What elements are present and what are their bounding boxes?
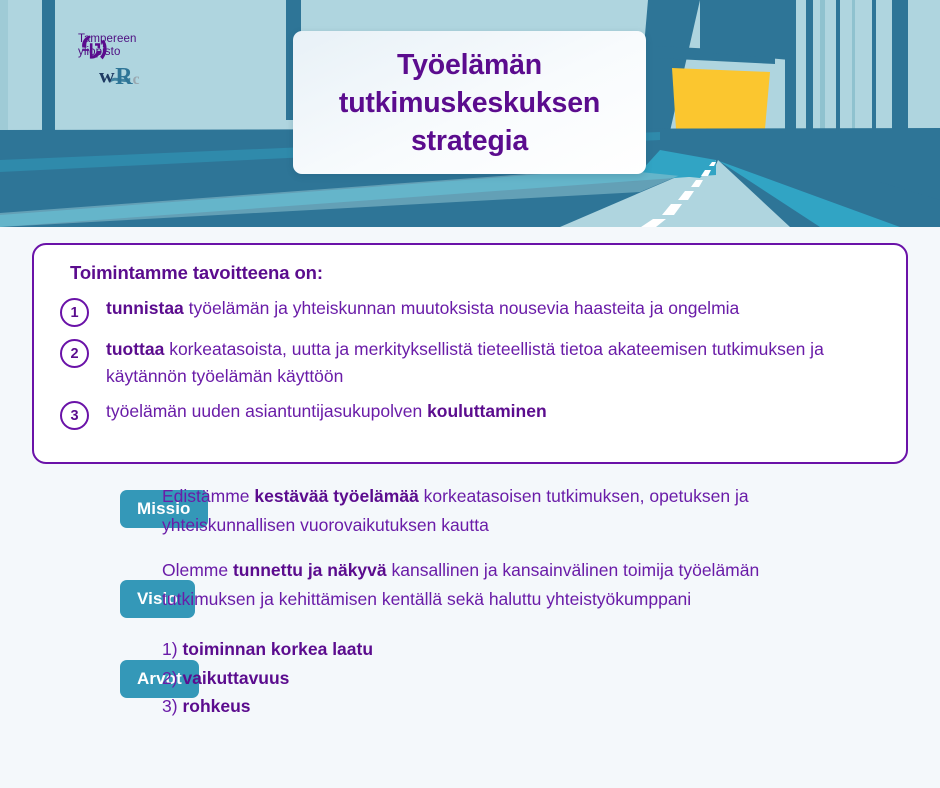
svg-text:w: w <box>99 64 115 88</box>
arvot-value-label: toiminnan korkea laatu <box>182 639 373 659</box>
arvot-row: Arvot 1) toiminnan korkea laatu 2) vaiku… <box>0 635 940 721</box>
objective-text: tunnistaa työelämän ja yhteiskunnan muut… <box>106 295 739 322</box>
objective-number-badge: 2 <box>60 339 89 368</box>
objective-keyword: tunnistaa <box>106 298 184 318</box>
visio-keyword: tunnettu ja näkyvä <box>233 560 387 580</box>
missio-keyword: kestävää työelämää <box>254 486 418 506</box>
objective-item-3: 3 työelämän uuden asiantuntijasukupolven… <box>60 398 880 430</box>
arvot-values-list: 1) toiminnan korkea laatu 2) vaikuttavuu… <box>162 635 373 721</box>
visio-row: Visio Olemme tunnettu ja näkyvä kansalli… <box>0 556 940 618</box>
arvot-value-item: 1) toiminnan korkea laatu <box>162 635 373 664</box>
svg-text:c: c <box>133 71 140 88</box>
objective-number-badge: 1 <box>60 298 89 327</box>
objective-pre: työelämän uuden asiantuntijasukupolven <box>106 401 427 421</box>
visio-badge-wrap: Visio <box>0 556 120 618</box>
logo-group: Tampereen yliopisto w R c <box>78 33 136 59</box>
objective-item-1: 1 tunnistaa työelämän ja yhteiskunnan mu… <box>60 295 880 327</box>
arvot-value-marker: 2) <box>162 668 178 688</box>
objective-text: työelämän uuden asiantuntijasukupolven k… <box>106 398 547 425</box>
bridge-cable-far-left <box>0 0 8 140</box>
svg-text:R: R <box>115 64 133 90</box>
wrc-logo: w R c <box>99 61 171 91</box>
arvot-value-label: rohkeus <box>182 696 250 716</box>
arvot-value-label: vaikuttavuus <box>182 668 289 688</box>
visio-text: Olemme tunnettu ja näkyvä kansallinen ja… <box>162 556 822 613</box>
objective-rest: työelämän ja yhteiskunnan muutoksista no… <box>184 298 739 318</box>
missio-badge-wrap: Missio <box>0 482 120 528</box>
arvot-badge-wrap: Arvot <box>0 635 120 698</box>
arvot-value-item: 3) rohkeus <box>162 692 373 721</box>
missio-row: Missio Edistämme kestävää työelämää kork… <box>0 482 940 539</box>
page-title: Työelämän tutkimuskeskuksen strategia <box>293 46 646 160</box>
missio-text: Edistämme kestävää työelämää korkeatasoi… <box>162 482 822 539</box>
arvot-value-marker: 1) <box>162 639 178 659</box>
objective-text: tuottaa korkeatasoista, uutta ja merkity… <box>106 336 866 389</box>
tampere-university-logo: Tampereen yliopisto <box>78 33 136 59</box>
bridge-pylon-left <box>42 0 55 140</box>
objective-rest: korkeatasoista, uutta ja merkityksellist… <box>106 339 824 386</box>
title-card: Työelämän tutkimuskeskuksen strategia <box>293 31 646 174</box>
objective-keyword: kouluttaminen <box>427 401 547 421</box>
hero-banner: Tampereen yliopisto w R c Työelämän tutk… <box>0 0 940 227</box>
bridge-deck-upper <box>700 0 790 60</box>
objective-number-badge: 3 <box>60 401 89 430</box>
objective-item-2: 2 tuottaa korkeatasoista, uutta ja merki… <box>60 336 880 389</box>
arvot-value-item: 2) vaikuttavuus <box>162 664 373 693</box>
objective-keyword: tuottaa <box>106 339 164 359</box>
objectives-panel: Toimintamme tavoitteena on: 1 tunnistaa … <box>32 243 908 464</box>
visio-text-pre: Olemme <box>162 560 233 580</box>
mission-vision-values-section: Missio Edistämme kestävää työelämää kork… <box>0 482 940 738</box>
objectives-heading: Toimintamme tavoitteena on: <box>70 262 880 284</box>
missio-text-pre: Edistämme <box>162 486 254 506</box>
arvot-value-marker: 3) <box>162 696 178 716</box>
